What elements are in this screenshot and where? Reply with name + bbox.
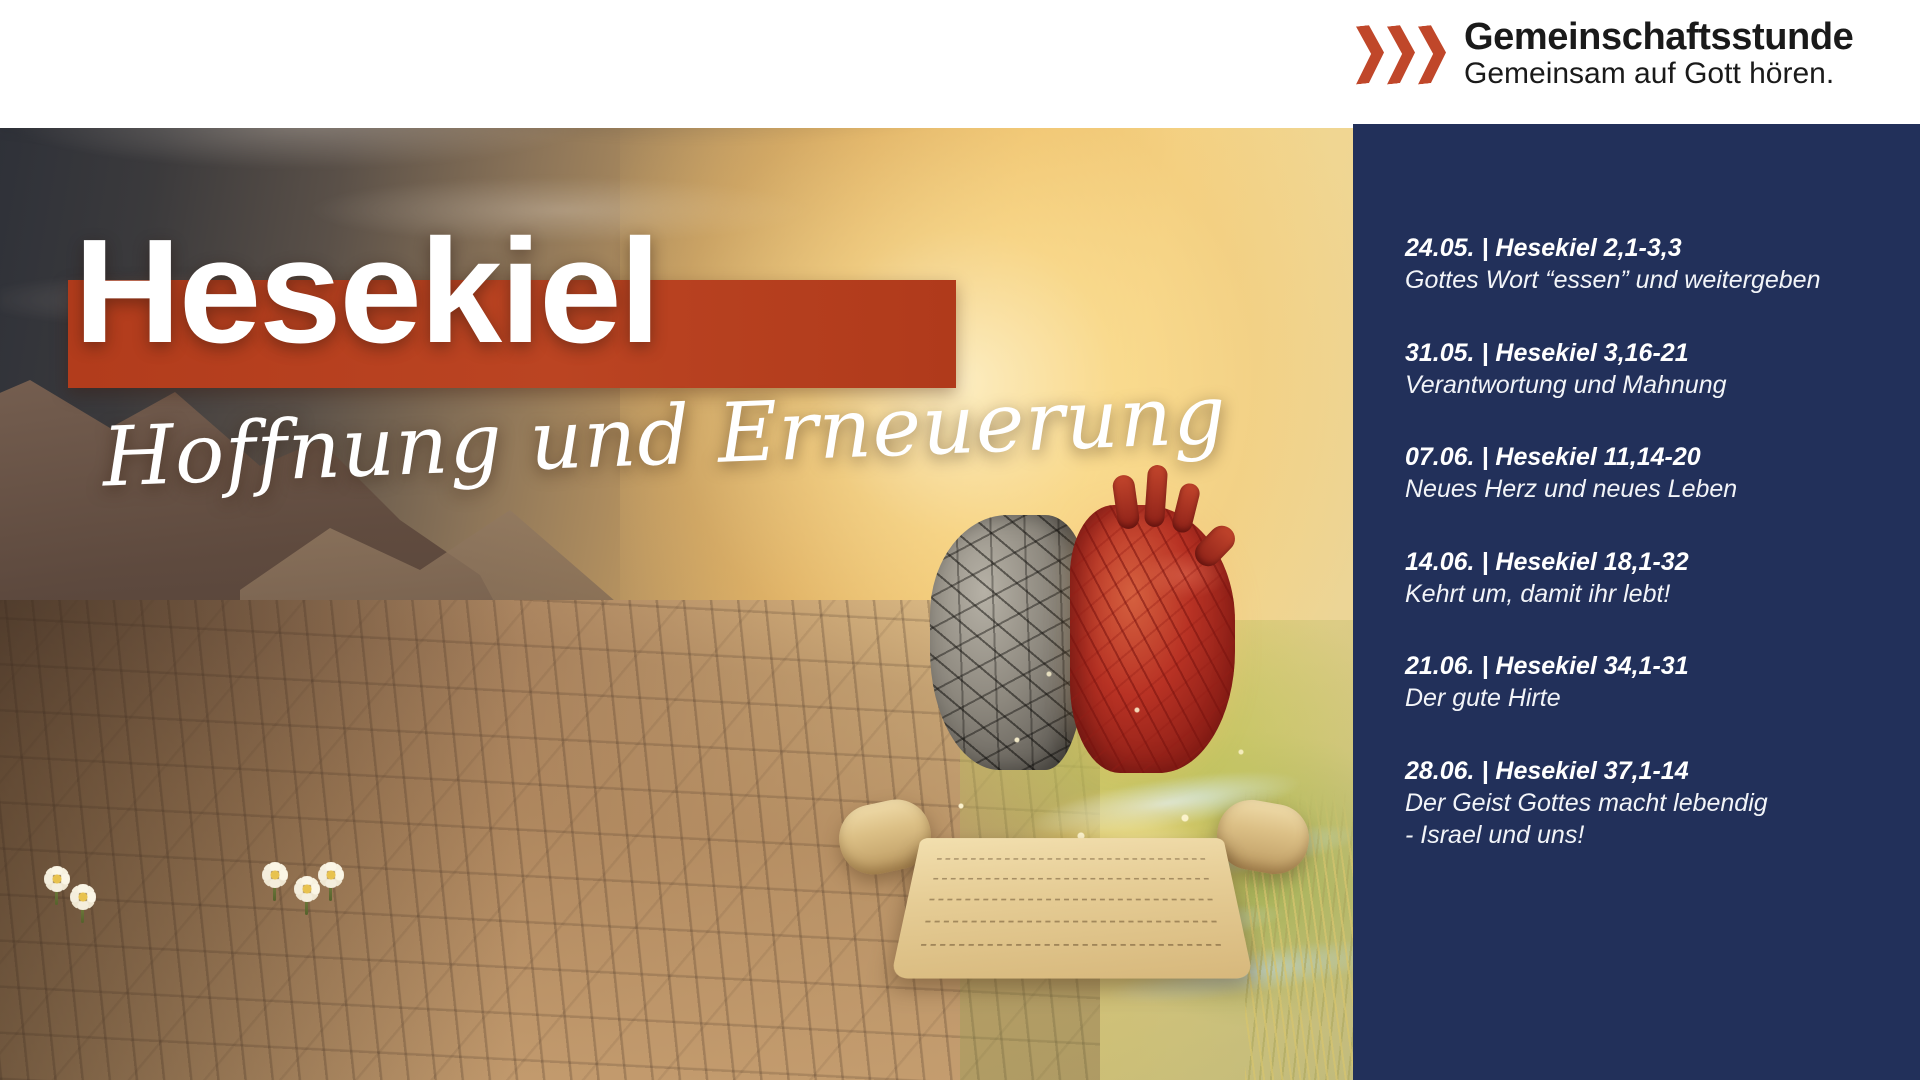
hero-artwork: Hesekiel Hoffnung und Erneuerung	[0, 0, 1355, 1080]
schedule-item-head: 24.05. | Hesekiel 2,1-3,3	[1405, 232, 1920, 264]
schedule-item-description: Der gute Hirte	[1405, 682, 1920, 715]
triple-chevron-icon	[1356, 25, 1446, 83]
page-title: Hesekiel	[74, 218, 934, 366]
schedule-item-description-line2: - Israel und uns!	[1405, 819, 1920, 852]
schedule-item-description: Der Geist Gottes macht lebendig	[1405, 787, 1920, 820]
schedule-item[interactable]: 07.06. | Hesekiel 11,14-20 Neues Herz un…	[1405, 441, 1920, 506]
header-band: Gemeinschaftsstunde Gemeinsam auf Gott h…	[0, 0, 1920, 128]
daisy-flower-icon	[294, 876, 320, 902]
logo-title: Gemeinschaftsstunde	[1464, 18, 1853, 56]
daisy-flower-icon	[44, 866, 70, 892]
daisy-flower-icon	[262, 862, 288, 888]
open-scroll	[845, 800, 1305, 1010]
logo-text-group: Gemeinschaftsstunde Gemeinsam auf Gott h…	[1464, 18, 1853, 89]
schedule-item-head: 31.05. | Hesekiel 3,16-21	[1405, 337, 1920, 369]
schedule-item-description: Gottes Wort “essen” und weitergeben	[1405, 264, 1920, 297]
schedule-item[interactable]: 14.06. | Hesekiel 18,1-32 Kehrt um, dami…	[1405, 546, 1920, 611]
scroll-hebrew-text	[918, 849, 1227, 962]
schedule-list: 24.05. | Hesekiel 2,1-3,3 Gottes Wort “e…	[1405, 232, 1920, 852]
schedule-item-head: 21.06. | Hesekiel 34,1-31	[1405, 650, 1920, 682]
schedule-item[interactable]: 31.05. | Hesekiel 3,16-21 Verantwortung …	[1405, 337, 1920, 402]
scroll-page	[891, 838, 1254, 978]
chevron-right-icon	[1356, 23, 1384, 84]
schedule-panel: 24.05. | Hesekiel 2,1-3,3 Gottes Wort “e…	[1353, 124, 1920, 1080]
schedule-item[interactable]: 21.06. | Hesekiel 34,1-31 Der gute Hirte	[1405, 650, 1920, 715]
schedule-item-head: 14.06. | Hesekiel 18,1-32	[1405, 546, 1920, 578]
brand-logo[interactable]: Gemeinschaftsstunde Gemeinsam auf Gott h…	[1356, 18, 1853, 89]
schedule-item-head: 07.06. | Hesekiel 11,14-20	[1405, 441, 1920, 473]
daisy-flower-icon	[318, 862, 344, 888]
schedule-item-description: Neues Herz und neues Leben	[1405, 473, 1920, 506]
schedule-item-head: 28.06. | Hesekiel 37,1-14	[1405, 755, 1920, 787]
schedule-item[interactable]: 28.06. | Hesekiel 37,1-14 Der Geist Gott…	[1405, 755, 1920, 852]
chevron-right-icon	[1418, 23, 1446, 84]
daisy-flower-icon	[70, 884, 96, 910]
poster-canvas: Hesekiel Hoffnung und Erneuerung Gemeins…	[0, 0, 1920, 1080]
chevron-right-icon	[1387, 23, 1415, 84]
logo-subtitle: Gemeinsam auf Gott hören.	[1464, 59, 1853, 89]
schedule-item-description: Verantwortung und Mahnung	[1405, 369, 1920, 402]
schedule-item[interactable]: 24.05. | Hesekiel 2,1-3,3 Gottes Wort “e…	[1405, 232, 1920, 297]
headline-block: Hesekiel Hoffnung und Erneuerung	[74, 218, 934, 366]
schedule-item-description: Kehrt um, damit ihr lebt!	[1405, 578, 1920, 611]
ground-shadow	[0, 600, 520, 1080]
